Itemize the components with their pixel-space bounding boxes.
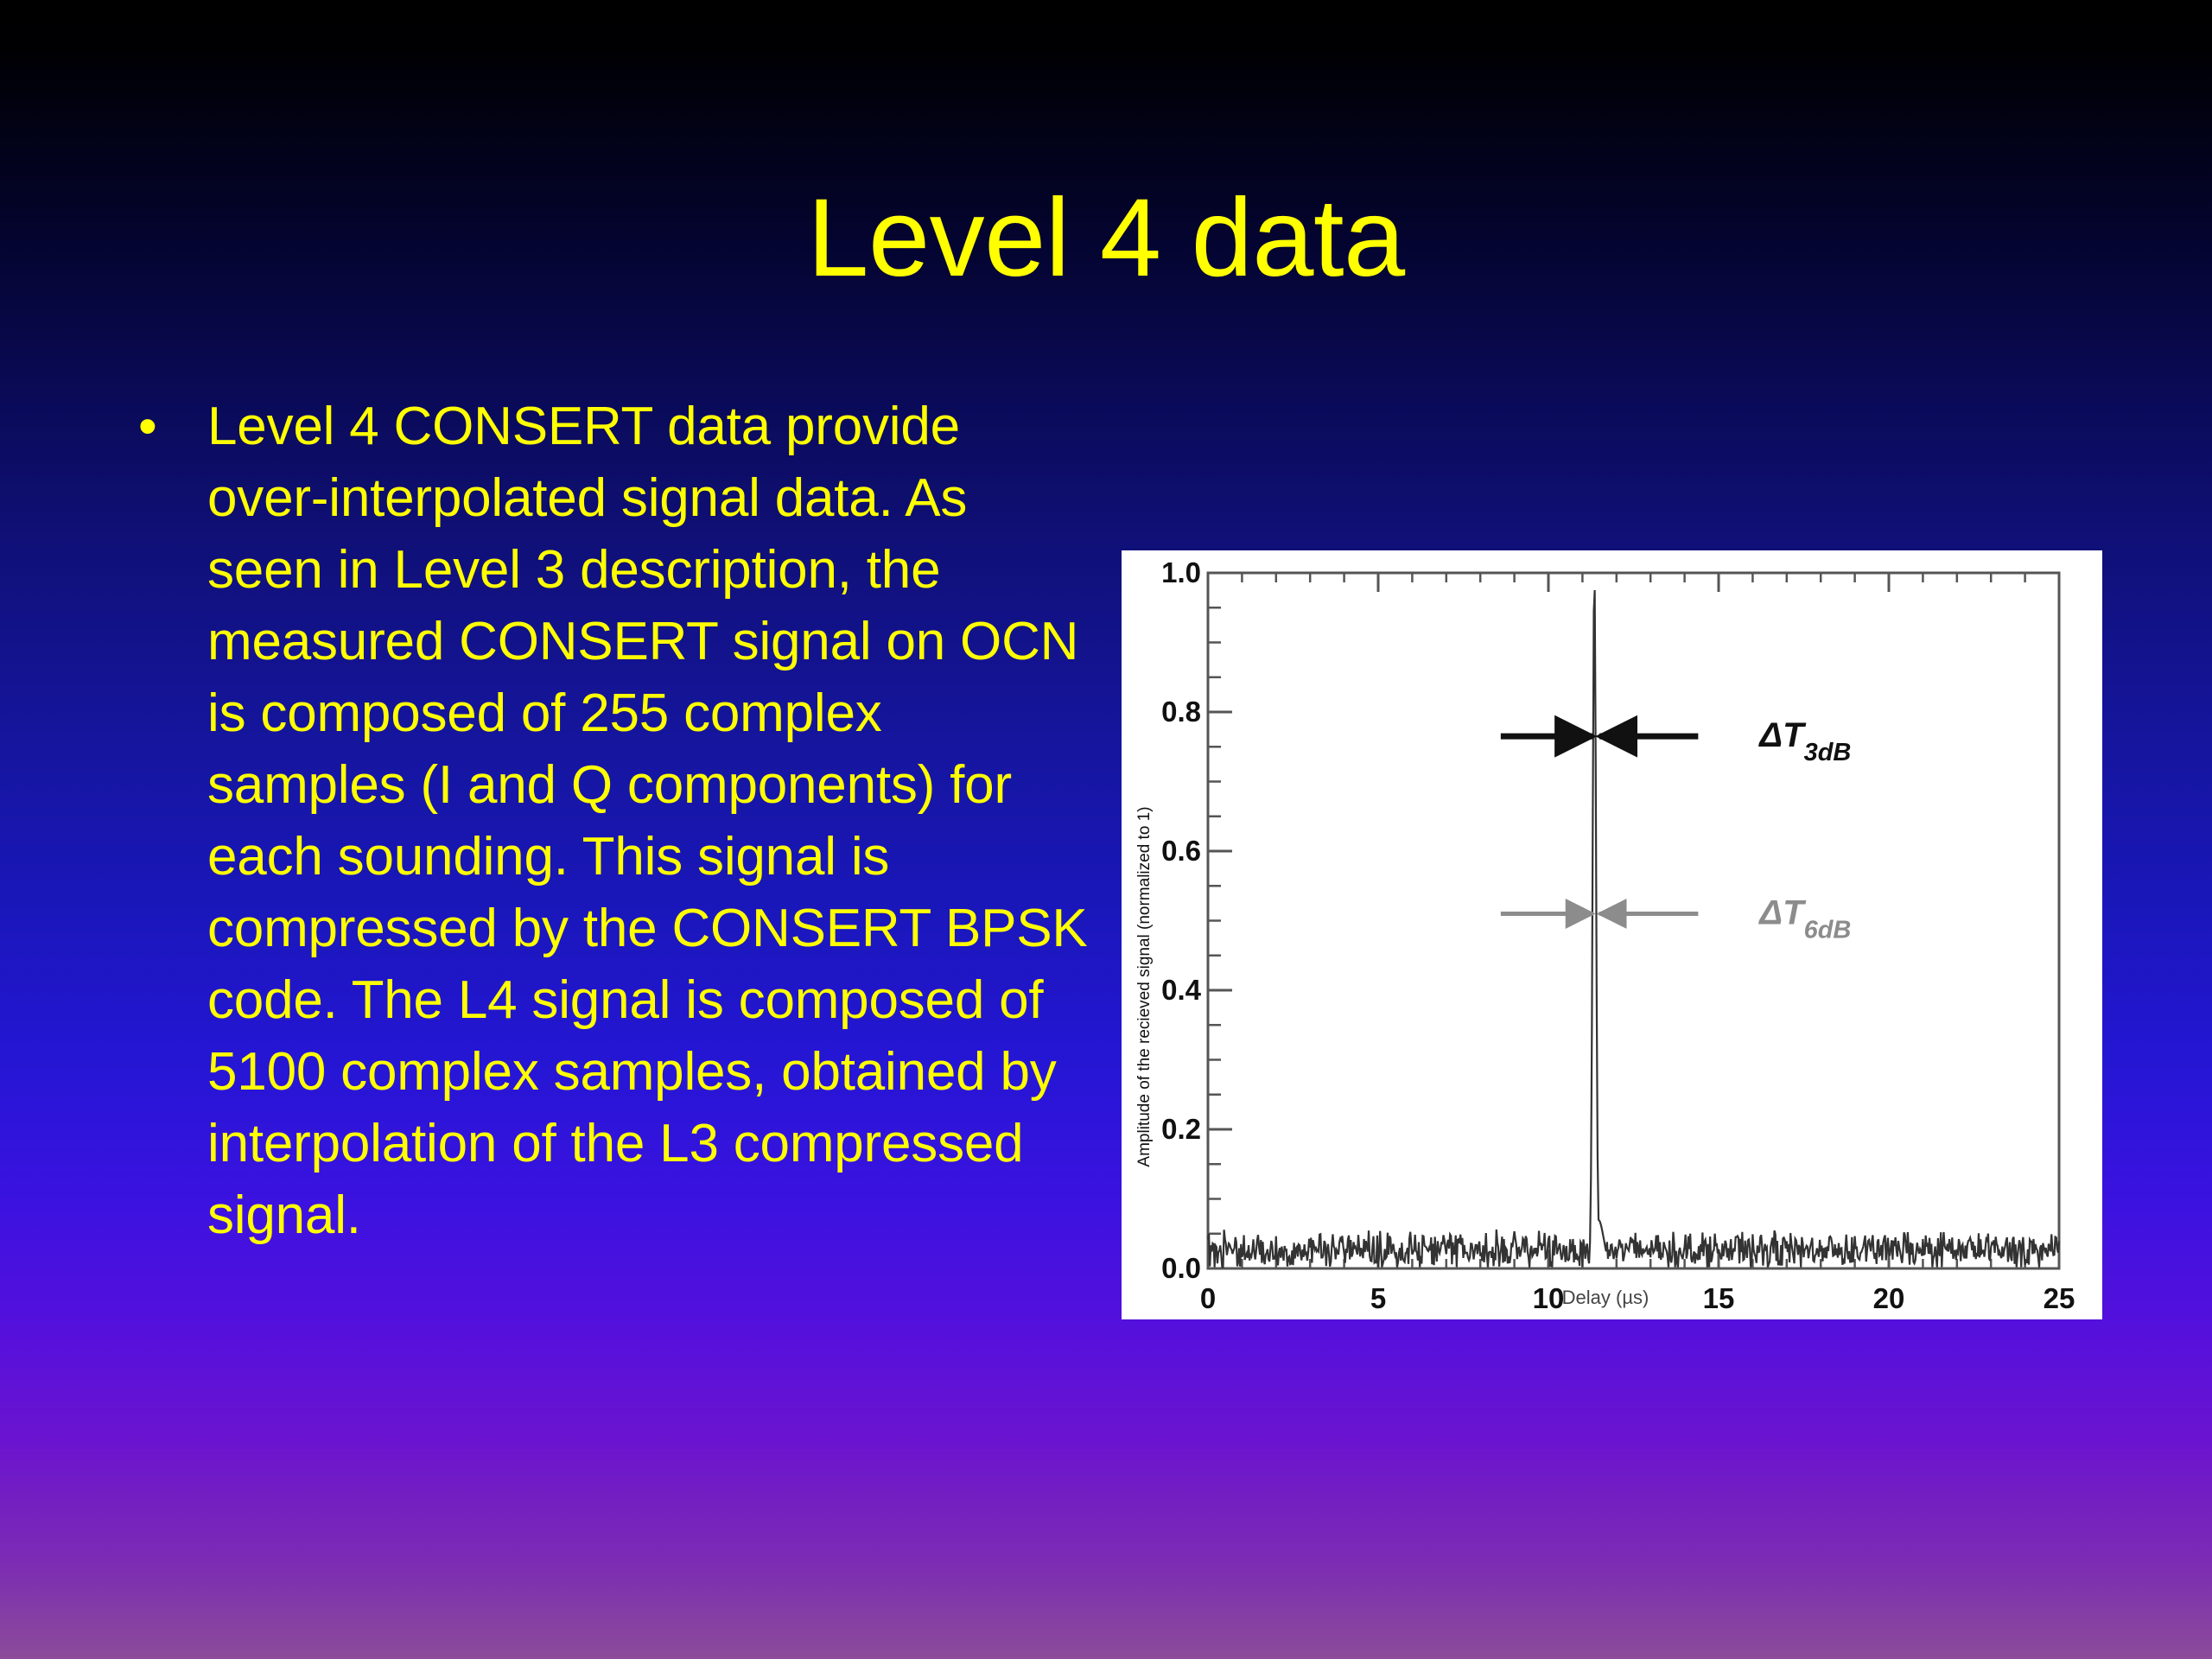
bullet-icon: • bbox=[130, 391, 207, 462]
svg-text:0.4: 0.4 bbox=[1161, 974, 1202, 1006]
svg-text:25: 25 bbox=[2044, 1282, 2075, 1314]
svg-text:0: 0 bbox=[1200, 1282, 1216, 1314]
chart-figure: Amplitude of the recieved signal (normal… bbox=[1122, 550, 2102, 1319]
svg-text:15: 15 bbox=[1703, 1282, 1735, 1314]
svg-text:10: 10 bbox=[1533, 1282, 1565, 1314]
svg-text:0.8: 0.8 bbox=[1161, 696, 1201, 728]
svg-text:5: 5 bbox=[1370, 1282, 1386, 1314]
svg-text:0.2: 0.2 bbox=[1161, 1113, 1201, 1145]
chart-x-axis-label: Delay (µs) bbox=[1562, 1287, 1649, 1308]
svg-text:1.0: 1.0 bbox=[1161, 556, 1201, 588]
bullet-paragraph: Level 4 CONSERT data provide over-interp… bbox=[207, 391, 1089, 1251]
slide-canvas: Level 4 data • Level 4 CONSERT data prov… bbox=[0, 0, 2212, 1659]
svg-text:20: 20 bbox=[1873, 1282, 1905, 1314]
svg-text:0.0: 0.0 bbox=[1161, 1252, 1201, 1284]
svg-text:0.6: 0.6 bbox=[1161, 835, 1201, 867]
list-item: • Level 4 CONSERT data provide over-inte… bbox=[130, 391, 1089, 1251]
chart-background bbox=[1122, 550, 2102, 1319]
body-text-block: • Level 4 CONSERT data provide over-inte… bbox=[130, 391, 1089, 1251]
signal-amplitude-chart: Amplitude of the recieved signal (normal… bbox=[1122, 550, 2102, 1319]
page-title: Level 4 data bbox=[0, 178, 2212, 300]
chart-y-axis-label: Amplitude of the recieved signal (normal… bbox=[1135, 806, 1154, 1166]
